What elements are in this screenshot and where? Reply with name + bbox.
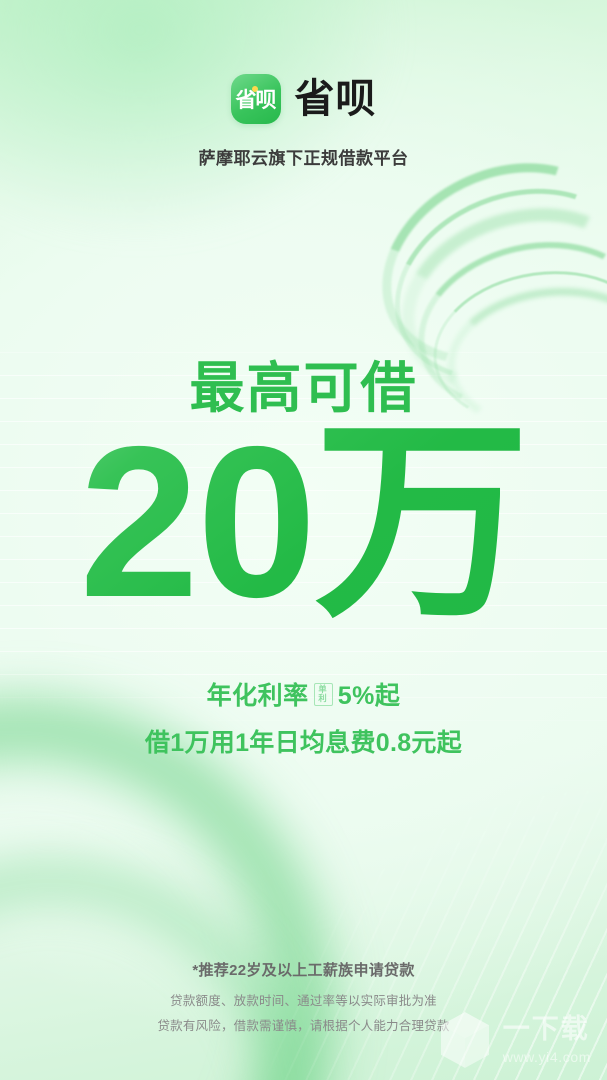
cube-icon <box>437 1010 493 1070</box>
footer-recommendation-note: *推荐22岁及以上工薪族申请贷款 <box>0 959 607 980</box>
daily-interest-line: 借1万用1年日均息费0.8元起 <box>0 723 607 759</box>
watermark-text: 一下载 www.yi4.com <box>503 1016 591 1064</box>
annual-rate-line: 年化利率 单 利 5%起 <box>0 676 607 712</box>
brand-row: 省呗 省呗 <box>0 74 607 124</box>
app-logo-icon: 省呗 <box>231 74 281 124</box>
brand-wordmark: 省呗 <box>295 79 377 119</box>
simple-interest-badge-char1: 单 <box>319 685 328 693</box>
promo-poster: 省呗 省呗 萨摩耶云旗下正规借款平台 最高可借 20万 年化利率 单 利 5%起… <box>0 0 607 1080</box>
watermark-title: 一下载 <box>503 1016 591 1043</box>
poster-header: 省呗 省呗 萨摩耶云旗下正规借款平台 <box>0 74 607 169</box>
annual-rate-value: 5%起 <box>338 676 401 712</box>
watermark-url: www.yi4.com <box>503 1050 591 1064</box>
brand-tagline: 萨摩耶云旗下正规借款平台 <box>0 144 607 169</box>
hero-amount: 20万 <box>0 412 607 631</box>
simple-interest-badge-char2: 利 <box>319 694 328 702</box>
simple-interest-badge: 单 利 <box>314 683 333 706</box>
hero-section: 最高可借 20万 <box>0 360 607 631</box>
rate-info-section: 年化利率 单 利 5%起 借1万用1年日均息费0.8元起 <box>0 676 607 759</box>
annual-rate-label: 年化利率 <box>207 676 309 712</box>
logo-mark-text: 省呗 <box>236 90 276 111</box>
site-watermark: 一下载 www.yi4.com <box>437 1010 591 1070</box>
